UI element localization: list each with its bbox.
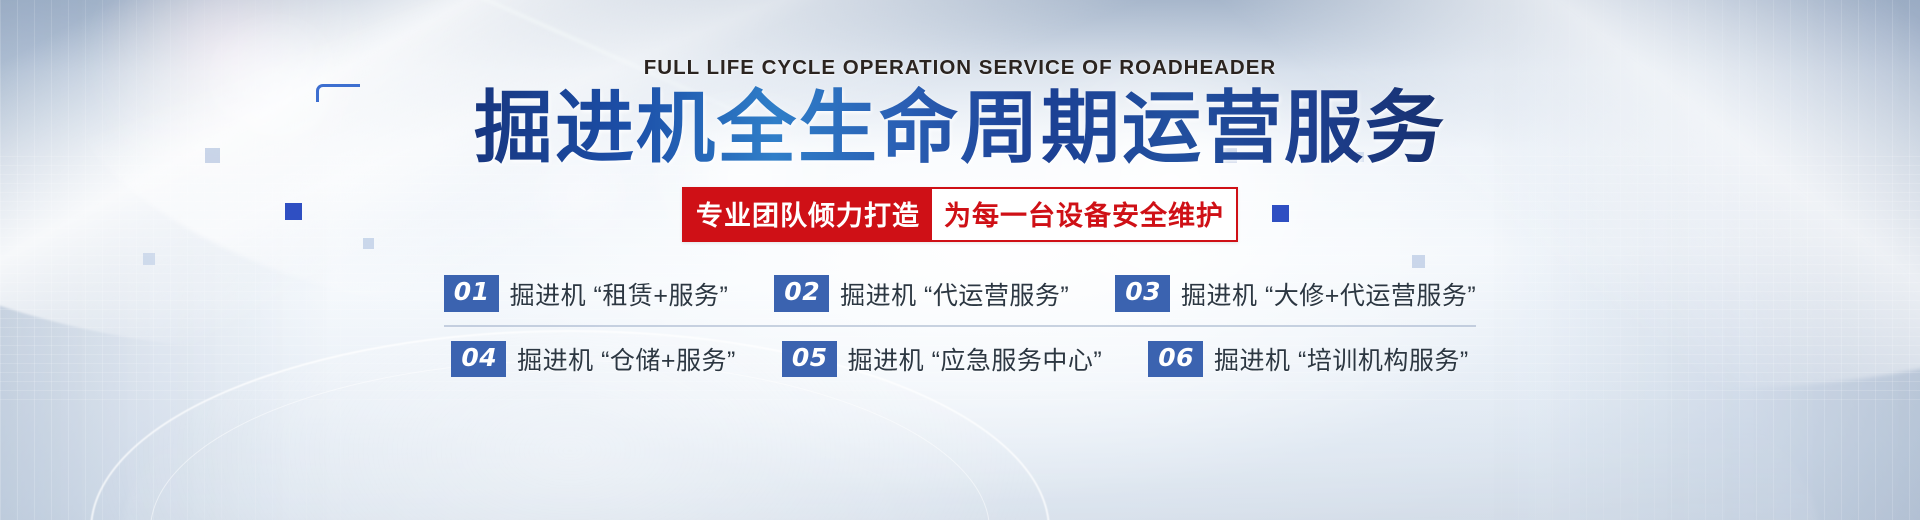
- service-label: 掘进机 “仓储+服务”: [517, 341, 736, 377]
- slogan-badge: 专业团队倾力打造 为每一台设备安全维护: [682, 187, 1238, 242]
- service-list: 01 掘进机 “租赁+服务” 02 掘进机 “代运营服务” 03 掘进机 “大修…: [444, 268, 1476, 386]
- banner-content: FULL LIFE CYCLE OPERATION SERVICE OF ROA…: [0, 0, 1920, 520]
- slogan-primary: 专业团队倾力打造: [684, 189, 932, 240]
- banner-eyebrow-english: FULL LIFE CYCLE OPERATION SERVICE OF ROA…: [644, 56, 1276, 80]
- slogan-secondary: 为每一台设备安全维护: [932, 189, 1236, 240]
- service-number-badge: 04: [451, 341, 506, 378]
- service-label: 掘进机 “大修+代运营服务”: [1181, 276, 1476, 312]
- service-number-badge: 02: [774, 275, 829, 312]
- service-item-04[interactable]: 04 掘进机 “仓储+服务”: [451, 341, 736, 378]
- service-label: 掘进机 “培训机构服务”: [1214, 341, 1469, 377]
- service-number-badge: 03: [1115, 275, 1170, 312]
- service-row-top: 01 掘进机 “租赁+服务” 02 掘进机 “代运营服务” 03 掘进机 “大修…: [444, 268, 1476, 327]
- service-number-badge: 06: [1148, 341, 1203, 378]
- service-label: 掘进机 “租赁+服务”: [510, 276, 729, 312]
- service-label: 掘进机 “代运营服务”: [840, 276, 1069, 312]
- service-item-03[interactable]: 03 掘进机 “大修+代运营服务”: [1115, 275, 1476, 312]
- service-item-05[interactable]: 05 掘进机 “应急服务中心”: [782, 341, 1102, 378]
- banner-headline: 掘进机全生命周期运营服务: [474, 86, 1446, 171]
- service-number-badge: 05: [782, 341, 837, 378]
- service-row-bottom: 04 掘进机 “仓储+服务” 05 掘进机 “应急服务中心” 06 掘进机 “培…: [451, 327, 1468, 387]
- service-label: 掘进机 “应急服务中心”: [848, 341, 1103, 377]
- service-number-badge: 01: [444, 275, 499, 312]
- service-item-01[interactable]: 01 掘进机 “租赁+服务”: [444, 275, 729, 312]
- service-item-02[interactable]: 02 掘进机 “代运营服务”: [774, 275, 1069, 312]
- promo-banner: FULL LIFE CYCLE OPERATION SERVICE OF ROA…: [0, 0, 1920, 520]
- service-item-06[interactable]: 06 掘进机 “培训机构服务”: [1148, 341, 1468, 378]
